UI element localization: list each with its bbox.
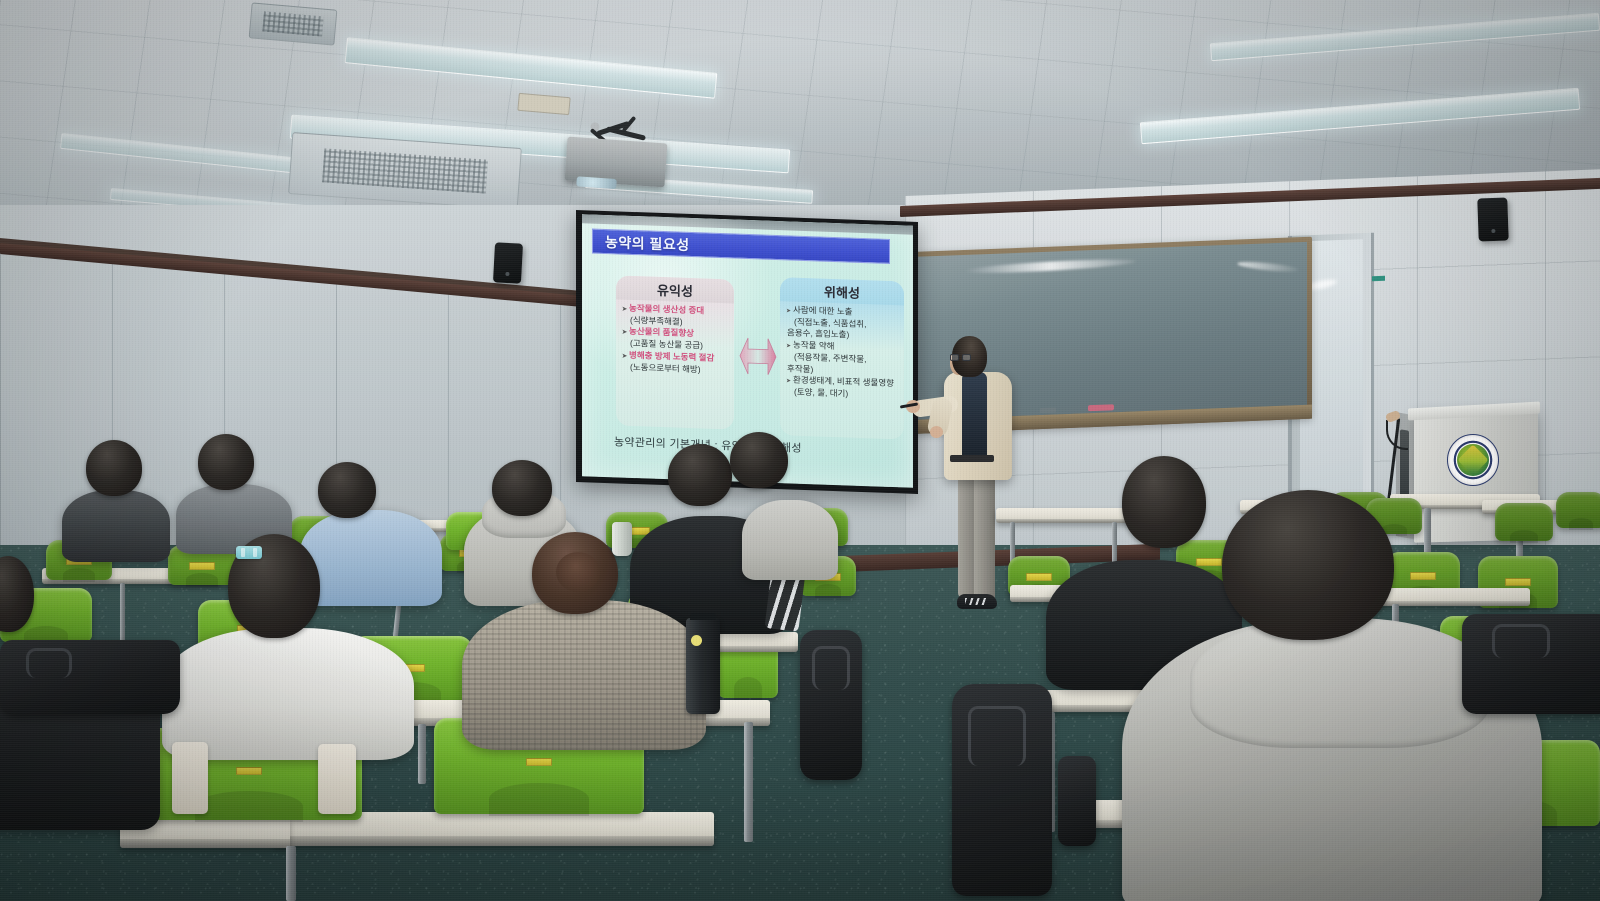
backpack [800,630,862,780]
lecturer-belt [950,455,994,462]
backpack [952,684,1052,896]
backpack-strap [1058,756,1096,846]
hair-clip [236,546,262,559]
lecture-hall-photo: 농약의 필요성 유익성 농작물의 생산성 증대 (식량부족해결) 농산물의 품질… [0,0,1600,901]
classroom-chair[interactable] [1495,503,1553,541]
wall-speaker-icon [493,242,523,283]
student-head [730,432,788,488]
student-head [492,460,552,516]
hair-bun [556,552,600,592]
slide-title-bar: 농약의 필요성 [592,229,890,264]
wall-speaker-icon [1477,197,1508,241]
desk-leg [418,724,426,784]
bottle-sticker [691,635,702,646]
chair-cushion [318,744,356,814]
desk-leg [286,846,296,901]
ac-vent-icon [249,2,338,45]
water-bottle [686,618,720,714]
student-head [1222,490,1394,640]
student-torso [742,500,838,580]
student-torso [300,510,442,606]
student-hood [1190,618,1490,748]
student-head [668,444,732,506]
student-torso [162,628,414,760]
ceiling-projector [565,137,668,188]
slide-benefits-box: 유익성 농작물의 생산성 증대 (식량부족해결) 농산물의 품질향상 (고품질 … [616,275,734,429]
glasses-icon [950,354,972,362]
student-desk [996,508,1132,523]
desk-leg [744,722,753,842]
wall-label-tag [1372,276,1385,281]
lecturer-shoe [957,594,997,609]
student-torso [462,600,706,750]
bottle-cap [690,613,716,620]
desk-leg [120,583,125,645]
backpack [0,640,180,714]
student-head [198,434,254,490]
marker-pen-icon [1088,404,1114,411]
classroom-chair[interactable] [1556,492,1600,528]
university-emblem-icon [1447,434,1499,486]
lecturer-leg [974,470,995,602]
student-torso [62,490,170,562]
slide-hazards-box: 위해성 사람에 대한 노출 (직접노출, 식품섭취, 음용수, 흡입노출) 농작… [780,277,904,439]
student-head [86,440,142,496]
backpack [1462,614,1600,714]
paper-cup [612,522,632,556]
chair-cushion [172,742,208,814]
lecturer-hand [930,426,943,438]
lecturer-shirt [962,372,987,458]
student-head [1122,456,1206,548]
student-head [318,462,376,518]
slide-title: 농약의 필요성 [593,231,690,254]
eraser-icon [1040,407,1056,413]
double-headed-arrow-icon [738,330,778,383]
